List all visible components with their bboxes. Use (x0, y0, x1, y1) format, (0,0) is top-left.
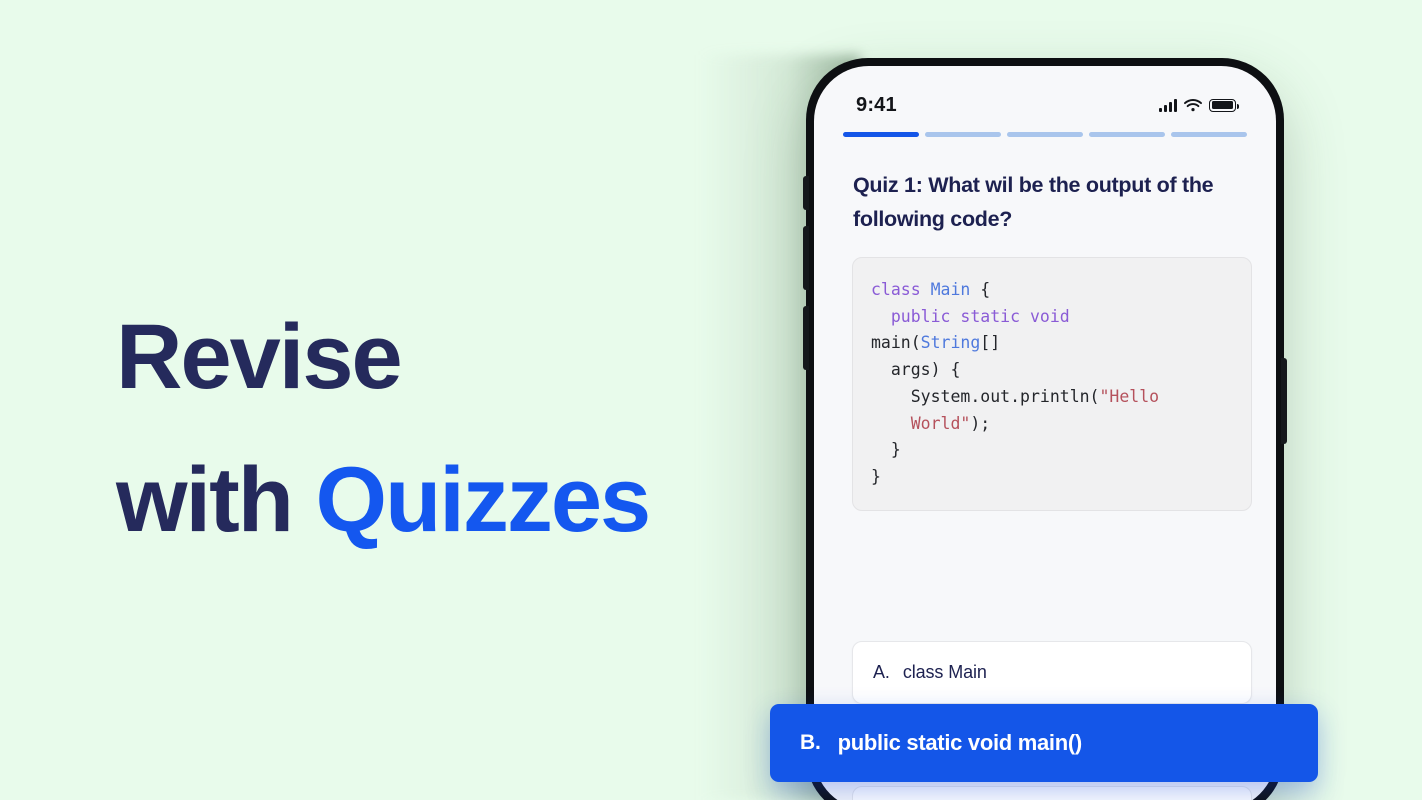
volume-up-button[interactable] (803, 226, 809, 290)
battery-icon (1209, 99, 1236, 112)
progress-segment-1 (843, 132, 919, 137)
headline-line-2-accent: Quizzes (316, 449, 650, 551)
progress-segment-5 (1171, 132, 1247, 137)
headline-line-2-plain: with (116, 449, 316, 551)
status-bar: 9:41 (814, 88, 1276, 122)
answer-option-b-text: public static void main() (838, 730, 1082, 756)
answer-option-a-text: class Main (903, 662, 987, 683)
quiz-question: Quiz 1: What wil be the output of the fo… (853, 169, 1243, 237)
answer-option-b-letter: B. (800, 731, 821, 755)
signal-icon (1159, 99, 1177, 112)
phone-mockup: 9:41 (806, 58, 1284, 800)
volume-down-button[interactable] (803, 306, 809, 370)
quiz-progress-bar (843, 132, 1247, 137)
progress-segment-2 (925, 132, 1001, 137)
answer-option-b[interactable]: B. public static void main() (770, 704, 1318, 782)
status-time: 9:41 (856, 94, 897, 117)
answer-option-a[interactable]: A. class Main (852, 641, 1252, 704)
phone-screen: 9:41 (814, 66, 1276, 800)
status-icons (1159, 99, 1236, 112)
headline-line-2: with Quizzes (116, 429, 756, 572)
answer-option-a-letter: A. (873, 662, 890, 683)
answer-option-c[interactable] (852, 786, 1252, 800)
silent-switch-button[interactable] (803, 176, 809, 210)
code-snippet: class Main { public static void main(Str… (852, 257, 1252, 511)
power-button[interactable] (1281, 358, 1287, 444)
headline-line-1: Revise (116, 286, 756, 429)
marketing-headline: Revise with Quizzes (116, 286, 756, 571)
progress-segment-4 (1089, 132, 1165, 137)
progress-segment-3 (1007, 132, 1083, 137)
wifi-icon (1184, 99, 1202, 112)
